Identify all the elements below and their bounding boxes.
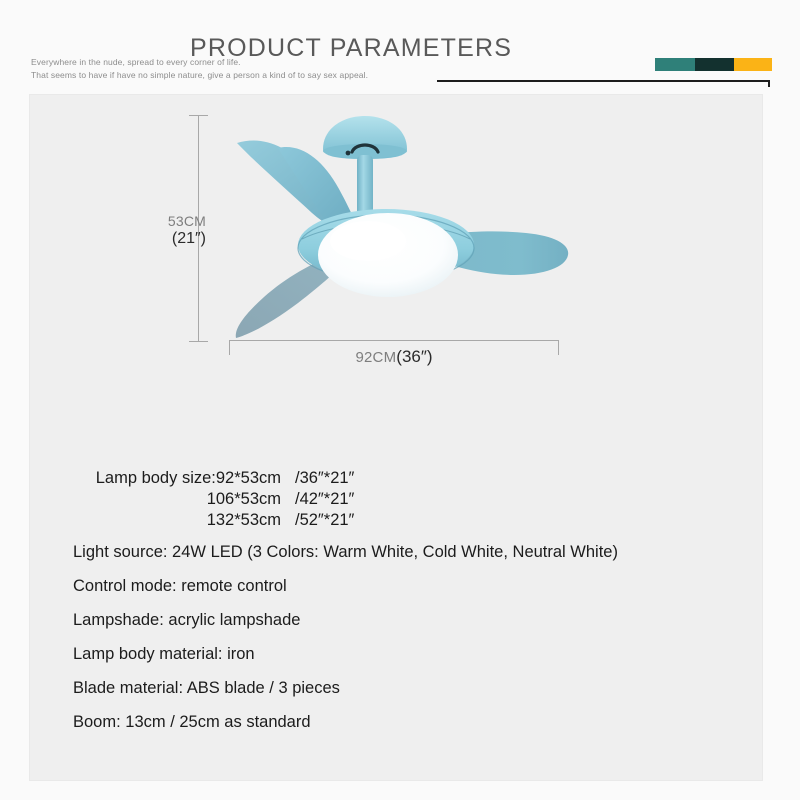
color-chip-dark-navy [695, 58, 733, 71]
spec-control-mode: Control mode: remote control [73, 569, 733, 603]
lamp-body-size-group: Lamp body size:92*53cm /36″*21″ 106*53cm… [73, 468, 733, 531]
lamp-body-size-imperial-1: /36″*21″ [295, 468, 354, 489]
height-dimension-label: 53CM (21″) [148, 212, 206, 248]
lamp-body-size-imperial-3: /52″*21″ [295, 510, 354, 531]
height-value-cm: 53CM [148, 212, 206, 230]
subtitle-line-2: That seems to have if have no simple nat… [31, 69, 368, 82]
spec-lampshade: Lampshade: acrylic lampshade [73, 603, 733, 637]
ceiling-fan-illustration [226, 103, 576, 343]
lamp-body-size-metric-2: 106*53cm [73, 489, 281, 510]
lamp-body-size-row-1: Lamp body size:92*53cm /36″*21″ [73, 468, 733, 489]
width-value-inch: (36″) [396, 347, 432, 366]
product-parameters-page: PRODUCT PARAMETERS Everywhere in the nud… [0, 0, 800, 800]
dimension-cap-top [189, 115, 208, 116]
width-value-cm: 92CM [355, 349, 396, 366]
canopy-screw [346, 151, 351, 156]
lamp-body-size-imperial-2: /42″*21″ [295, 489, 354, 510]
lamp-body-size-row-2: 106*53cm /42″*21″ [73, 489, 733, 510]
dimension-cap-bottom [189, 341, 208, 342]
subtitle-line-1: Everywhere in the nude, spread to every … [31, 56, 368, 69]
specification-list: Lamp body size:92*53cm /36″*21″ 106*53cm… [73, 468, 733, 739]
spec-blade-material: Blade material: ABS blade / 3 pieces [73, 671, 733, 705]
lamp-body-size-label-and-value: Lamp body size:92*53cm [73, 468, 281, 489]
color-chip-teal [655, 58, 695, 71]
height-value-inch: (21″) [148, 230, 206, 248]
header-color-chips [655, 58, 772, 71]
width-dimension-label: 92CM(36″) [229, 347, 559, 367]
lamp-body-size-metric-3: 132*53cm [73, 510, 281, 531]
header-subtitle: Everywhere in the nude, spread to every … [31, 56, 368, 81]
product-image-stage: 53CM (21″) 92CM(36″) [30, 95, 762, 380]
spec-lamp-body-material: Lamp body material: iron [73, 637, 733, 671]
spec-boom: Boom: 13cm / 25cm as standard [73, 705, 733, 739]
color-chip-amber [734, 58, 772, 71]
spec-light-source: Light source: 24W LED (3 Colors: Warm Wh… [73, 535, 733, 569]
lamp-body-size-row-3: 132*53cm /52″*21″ [73, 510, 733, 531]
parameters-card: 53CM (21″) 92CM(36″) [30, 95, 762, 780]
header-divider-rule [437, 80, 770, 82]
light-dome-highlight [330, 221, 406, 261]
